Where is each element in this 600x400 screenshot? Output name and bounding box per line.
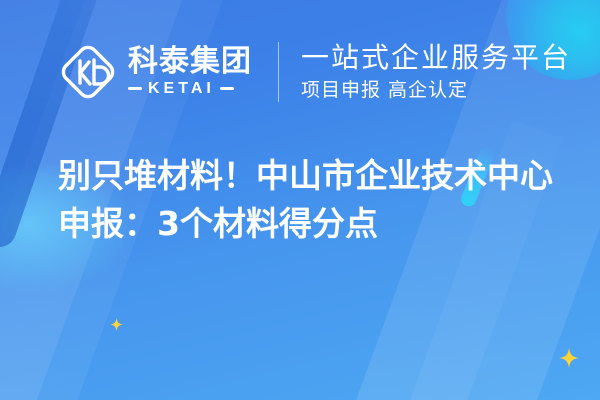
promo-banner: 科泰集团 KETAI 一站式企业服务平台 项目申报 高企认定 别只堆材料！中山市… <box>0 0 600 400</box>
sparkle-star-icon <box>559 348 579 368</box>
logo-rule-right <box>220 87 234 90</box>
brand-tagline: 一站式企业服务平台 项目申报 高企认定 <box>301 42 571 103</box>
sparkle-star-icon <box>110 318 123 331</box>
banner-headline: 别只堆材料！中山市企业技术中心 申报：3个材料得分点 <box>58 152 578 248</box>
tagline-primary: 一站式企业服务平台 <box>301 42 571 74</box>
header-divider <box>278 42 279 102</box>
headline-line-1: 别只堆材料！中山市企业技术中心 <box>58 152 578 200</box>
tagline-secondary: 项目申报 高企认定 <box>301 78 571 103</box>
brand-logo: 科泰集团 KETAI <box>56 40 252 104</box>
brand-name-en-row: KETAI <box>128 80 252 98</box>
brand-name-cn: 科泰集团 <box>128 46 252 77</box>
headline-line-2: 申报：3个材料得分点 <box>58 200 578 248</box>
logo-rule-left <box>128 87 142 90</box>
brand-name-en: KETAI <box>148 80 215 98</box>
banner-header: 科泰集团 KETAI 一站式企业服务平台 项目申报 高企认定 <box>56 40 571 104</box>
ketai-diamond-monogram-icon <box>56 40 120 104</box>
